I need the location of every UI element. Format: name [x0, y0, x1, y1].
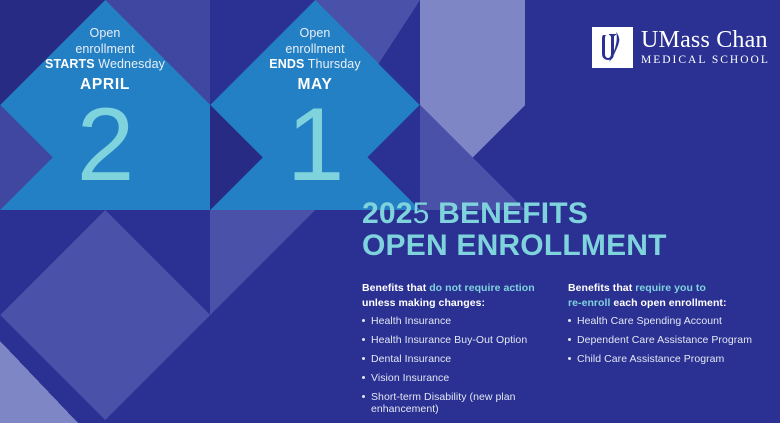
headline-year-bold: 202: [362, 197, 413, 230]
logo-subtitle: MEDICAL SCHOOL: [641, 54, 770, 67]
re-enroll-heading: Benefits that require you to re-enroll e…: [568, 281, 762, 311]
no-action-heading-accent: do not require action: [429, 282, 534, 294]
list-item-label: Child Care Assistance Program: [577, 353, 724, 365]
no-action-benefits-list: Health Insurance Health Insurance Buy-Ou…: [362, 315, 556, 415]
bullet-icon: [568, 338, 571, 341]
list-item: Short-term Disability (new plan enhancem…: [362, 391, 556, 415]
list-item: Health Care Spending Account: [568, 315, 762, 327]
bullet-icon: [362, 338, 365, 341]
bullet-icon: [568, 319, 571, 322]
bullet-icon: [568, 357, 571, 360]
re-enroll-heading-accent-2: re-enroll: [568, 297, 610, 309]
headline-benefits-word: BENEFITS: [430, 197, 588, 230]
no-action-heading-prefix: Benefits that: [362, 282, 429, 294]
no-action-heading-line2: unless making changes:: [362, 297, 485, 309]
bullet-icon: [362, 376, 365, 379]
umass-chan-u-monogram-icon: [592, 27, 633, 68]
column-no-action-required: Benefits that do not require action unle…: [362, 281, 556, 422]
list-item-label: Health Insurance Buy-Out Option: [371, 334, 527, 346]
headline-line-1: 2025 BENEFITS: [362, 198, 667, 230]
logo-wordmark: UMass Chan MEDICAL SCHOOL: [641, 28, 770, 67]
re-enroll-heading-prefix: Benefits that: [568, 282, 635, 294]
list-item-label: Dependent Care Assistance Program: [577, 334, 752, 346]
re-enroll-heading-line2-suffix: each open enrollment:: [610, 297, 726, 309]
logo-name: UMass Chan: [641, 28, 770, 53]
list-item: Dependent Care Assistance Program: [568, 334, 762, 346]
list-item: Child Care Assistance Program: [568, 353, 762, 365]
list-item: Vision Insurance: [362, 372, 556, 384]
page-title: 2025 BENEFITS OPEN ENROLLMENT: [362, 198, 667, 262]
headline-line-2: OPEN ENROLLMENT: [362, 230, 667, 262]
bullet-icon: [362, 395, 365, 398]
list-item: Health Insurance: [362, 315, 556, 327]
headline-year-thin: 5: [413, 197, 430, 230]
bullet-icon: [362, 357, 365, 360]
umass-chan-logo: UMass Chan MEDICAL SCHOOL: [592, 27, 770, 68]
list-item: Dental Insurance: [362, 353, 556, 365]
list-item-label: Short-term Disability (new plan enhancem…: [371, 391, 516, 415]
re-enroll-benefits-list: Health Care Spending Account Dependent C…: [568, 315, 762, 365]
list-item-label: Dental Insurance: [371, 353, 451, 365]
list-item-label: Health Insurance: [371, 315, 451, 327]
no-action-heading: Benefits that do not require action unle…: [362, 281, 556, 311]
column-re-enroll-required: Benefits that require you to re-enroll e…: [568, 281, 762, 422]
list-item: Health Insurance Buy-Out Option: [362, 334, 556, 346]
benefits-open-enrollment-poster: Open enrollment STARTS Wednesday APRIL 2…: [0, 0, 780, 423]
bullet-icon: [362, 319, 365, 322]
list-item-label: Health Care Spending Account: [577, 315, 722, 327]
list-item-label: Vision Insurance: [371, 372, 449, 384]
re-enroll-heading-accent: require you to: [635, 282, 706, 294]
benefits-columns: Benefits that do not require action unle…: [362, 281, 762, 422]
